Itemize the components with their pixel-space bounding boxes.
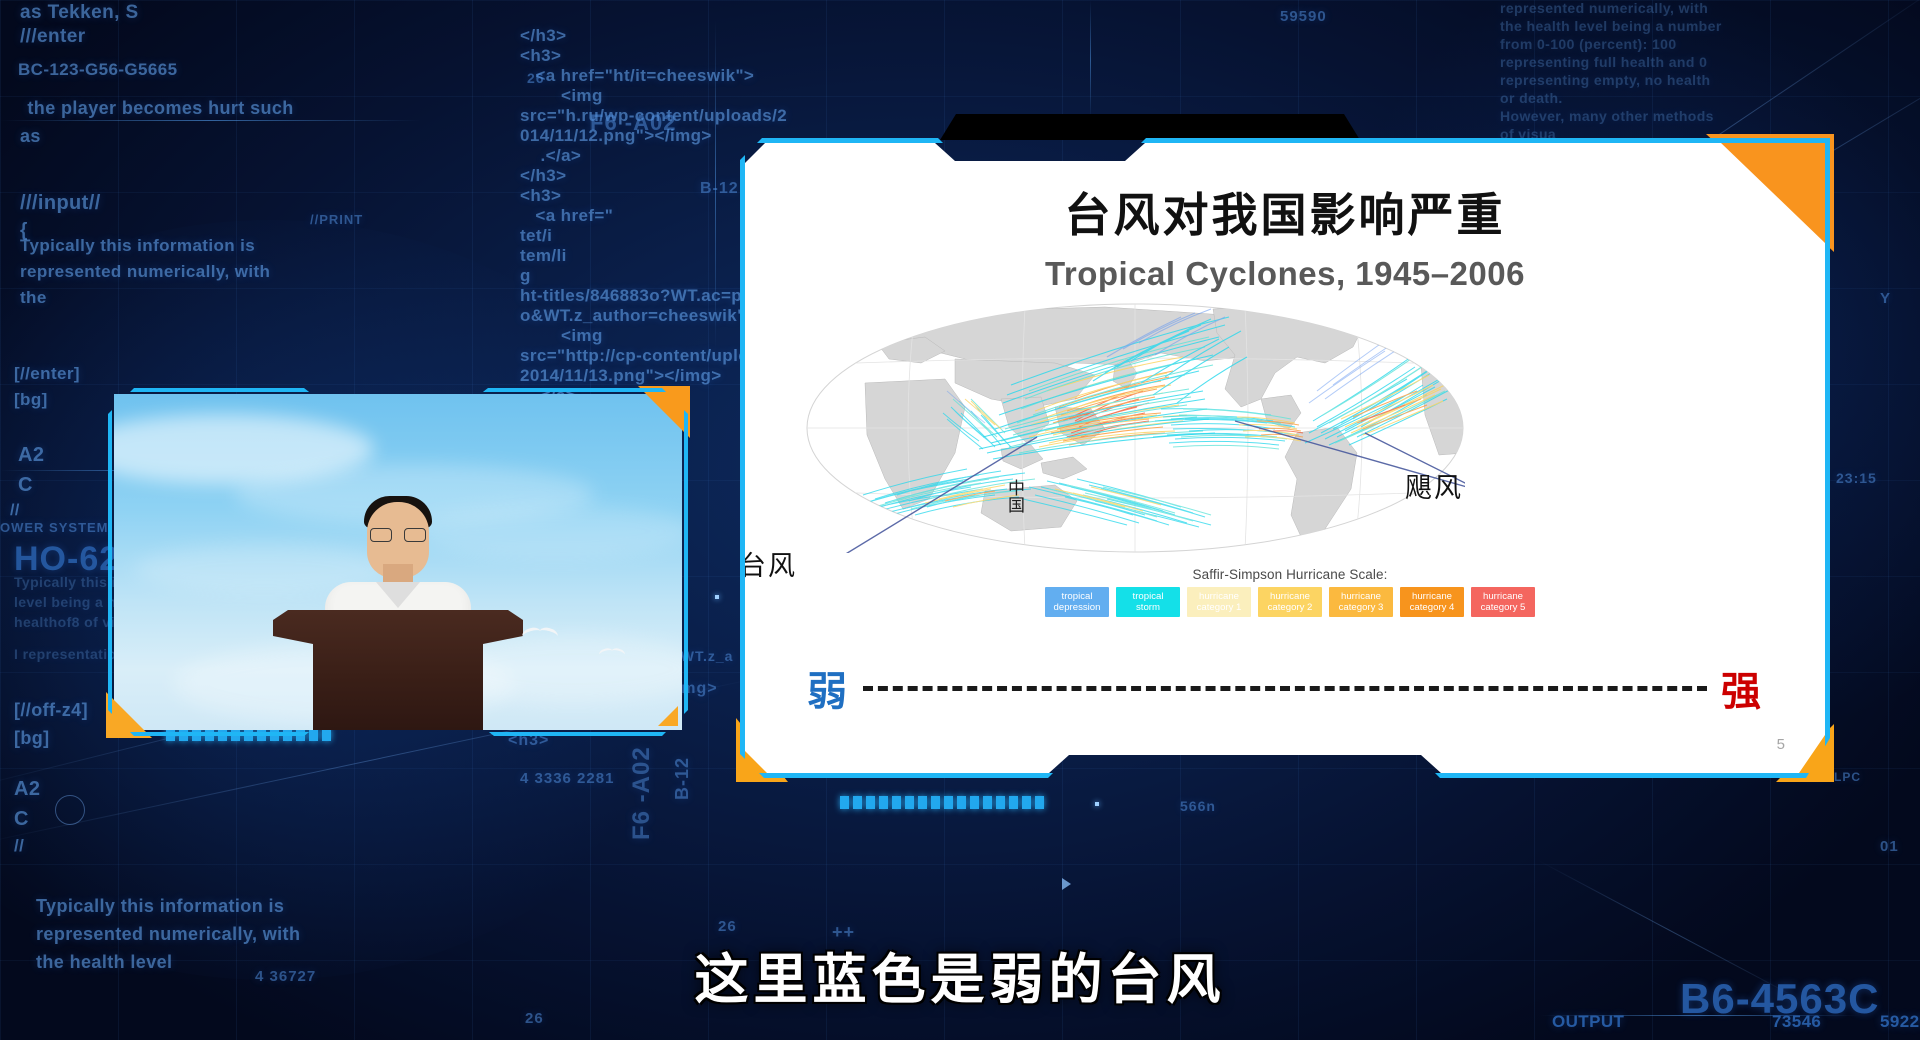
bg-code-line: as bbox=[20, 126, 41, 147]
bg-code-line: </h3> bbox=[520, 166, 566, 186]
bg-tag: 59590 bbox=[1280, 8, 1327, 25]
bg-code-line: .</a> bbox=[520, 146, 581, 166]
video-panel-frame bbox=[108, 388, 688, 736]
background-triangle bbox=[1062, 878, 1071, 890]
bg-code-line: tem/li bbox=[520, 246, 567, 266]
bg-code-line: ///input// bbox=[20, 192, 101, 215]
bg-footer-value-1: 73546 bbox=[1772, 1012, 1821, 1032]
bg-code-line: the health level being a number bbox=[1500, 18, 1722, 34]
bg-tag: F6 -A02 bbox=[628, 746, 656, 840]
bg-code-line: [bg] bbox=[14, 728, 50, 749]
bg-code-line: g bbox=[520, 266, 531, 286]
background-circle bbox=[55, 795, 85, 825]
bg-code-line: However, many other methods bbox=[1500, 108, 1714, 124]
bg-code-line: [//enter] bbox=[14, 364, 80, 384]
bg-code-line: represented numerically, with bbox=[20, 262, 270, 282]
background-rule bbox=[715, 20, 716, 350]
bg-code-line: [//off-z4] bbox=[14, 700, 88, 721]
slide-panel-frame bbox=[740, 138, 1830, 778]
background-rule bbox=[1090, 0, 1091, 120]
bg-code-line: ht-titles/846883o?WT.ac=po bbox=[520, 286, 753, 306]
bg-code-line: A2 bbox=[14, 778, 40, 801]
bg-tag: F6 -A02 bbox=[590, 110, 676, 136]
bg-code-line: src="h.ru/wp-content/uploads/2 bbox=[520, 106, 787, 126]
bg-code-line: the bbox=[20, 288, 47, 308]
bg-code-line: <img bbox=[520, 86, 603, 106]
bg-code-line: C bbox=[18, 474, 33, 497]
video-caption: 这里蓝色是弱的台风 bbox=[0, 935, 1920, 1014]
bg-code-line: from 0-100 (percent): 100 bbox=[1500, 36, 1677, 52]
slide-top-tab bbox=[940, 114, 1360, 140]
bg-code-line: healthof8 of vis bbox=[14, 614, 123, 630]
background-rule bbox=[1540, 1015, 1860, 1016]
bg-code-line: represented numerically, with bbox=[1500, 0, 1708, 16]
slide-panel[interactable]: 台风对我国影响严重 Tropical Cyclones, 1945–2006 bbox=[740, 138, 1830, 778]
bg-tag: OWER SYSTEM bbox=[0, 520, 109, 535]
bg-code-line: or death. bbox=[1500, 90, 1563, 106]
bg-code-line: C bbox=[14, 808, 29, 831]
bg-code-line: representing empty, no health bbox=[1500, 72, 1711, 88]
bg-tag: 26 bbox=[718, 918, 737, 935]
bg-tag: 26 bbox=[527, 70, 545, 86]
background-dot bbox=[715, 595, 719, 599]
bg-tag: Y bbox=[1880, 290, 1891, 307]
bg-code-line: [bg] bbox=[14, 390, 48, 410]
bg-code-line: 014/11/12.png"></img> bbox=[520, 126, 712, 146]
bg-code-line: as Tekken, S bbox=[20, 2, 139, 24]
bg-code-line: representing full health and 0 bbox=[1500, 54, 1707, 70]
bg-code-line: ///enter bbox=[20, 26, 86, 48]
bg-footer-value-2: 59220 bbox=[1880, 1012, 1920, 1032]
background-dot bbox=[1095, 802, 1099, 806]
screen-root: as Tekken, S ///enter BC-123-G56-G5665 t… bbox=[0, 0, 1920, 1040]
background-rule bbox=[0, 120, 420, 121]
presenter-video-panel[interactable] bbox=[108, 388, 688, 736]
bg-code-line: { bbox=[20, 220, 28, 242]
bg-code-line: Typically this information is bbox=[20, 236, 255, 256]
bg-code-line: the player becomes hurt such bbox=[22, 98, 294, 119]
bg-tag: 4 3336 2281 bbox=[520, 770, 614, 787]
bg-code-line: A2 bbox=[18, 444, 44, 467]
bg-code-line: src="http://cp-content/uplo bbox=[520, 346, 749, 366]
bg-tag: 23:15 bbox=[1836, 470, 1877, 486]
bg-tag: 566n bbox=[1180, 798, 1216, 814]
bg-tag: //PRINT bbox=[310, 212, 363, 227]
bg-code-line: tet/i bbox=[520, 226, 552, 246]
bg-code-line: <a href="ht/it=cheeswik"> bbox=[520, 66, 754, 86]
bg-tag: B-12 bbox=[672, 757, 693, 800]
bg-code-line: <a href=" bbox=[520, 206, 613, 226]
bg-code-line: <h3> bbox=[520, 46, 561, 66]
bg-code-line: BC-123-G56-G5665 bbox=[18, 60, 177, 80]
bg-code-line: o&WT.z_author=cheeswik"> bbox=[520, 306, 756, 326]
bg-code-line: 2014/11/13.png"></img> bbox=[520, 366, 722, 386]
bg-tag: 01 bbox=[1880, 838, 1899, 855]
bg-tag: B-12 bbox=[700, 180, 739, 198]
bg-code-line: <img bbox=[520, 326, 603, 346]
tick-strip-slide bbox=[840, 796, 1044, 809]
bg-footer-label: OUTPUT bbox=[1552, 1012, 1624, 1032]
bg-code-line: // bbox=[14, 836, 24, 856]
bg-code-line: </h3> bbox=[520, 26, 566, 46]
bg-code-line: // bbox=[10, 502, 20, 520]
bg-code-line: <h3> bbox=[520, 186, 561, 206]
bg-code-line: Typically this information is bbox=[36, 896, 284, 917]
